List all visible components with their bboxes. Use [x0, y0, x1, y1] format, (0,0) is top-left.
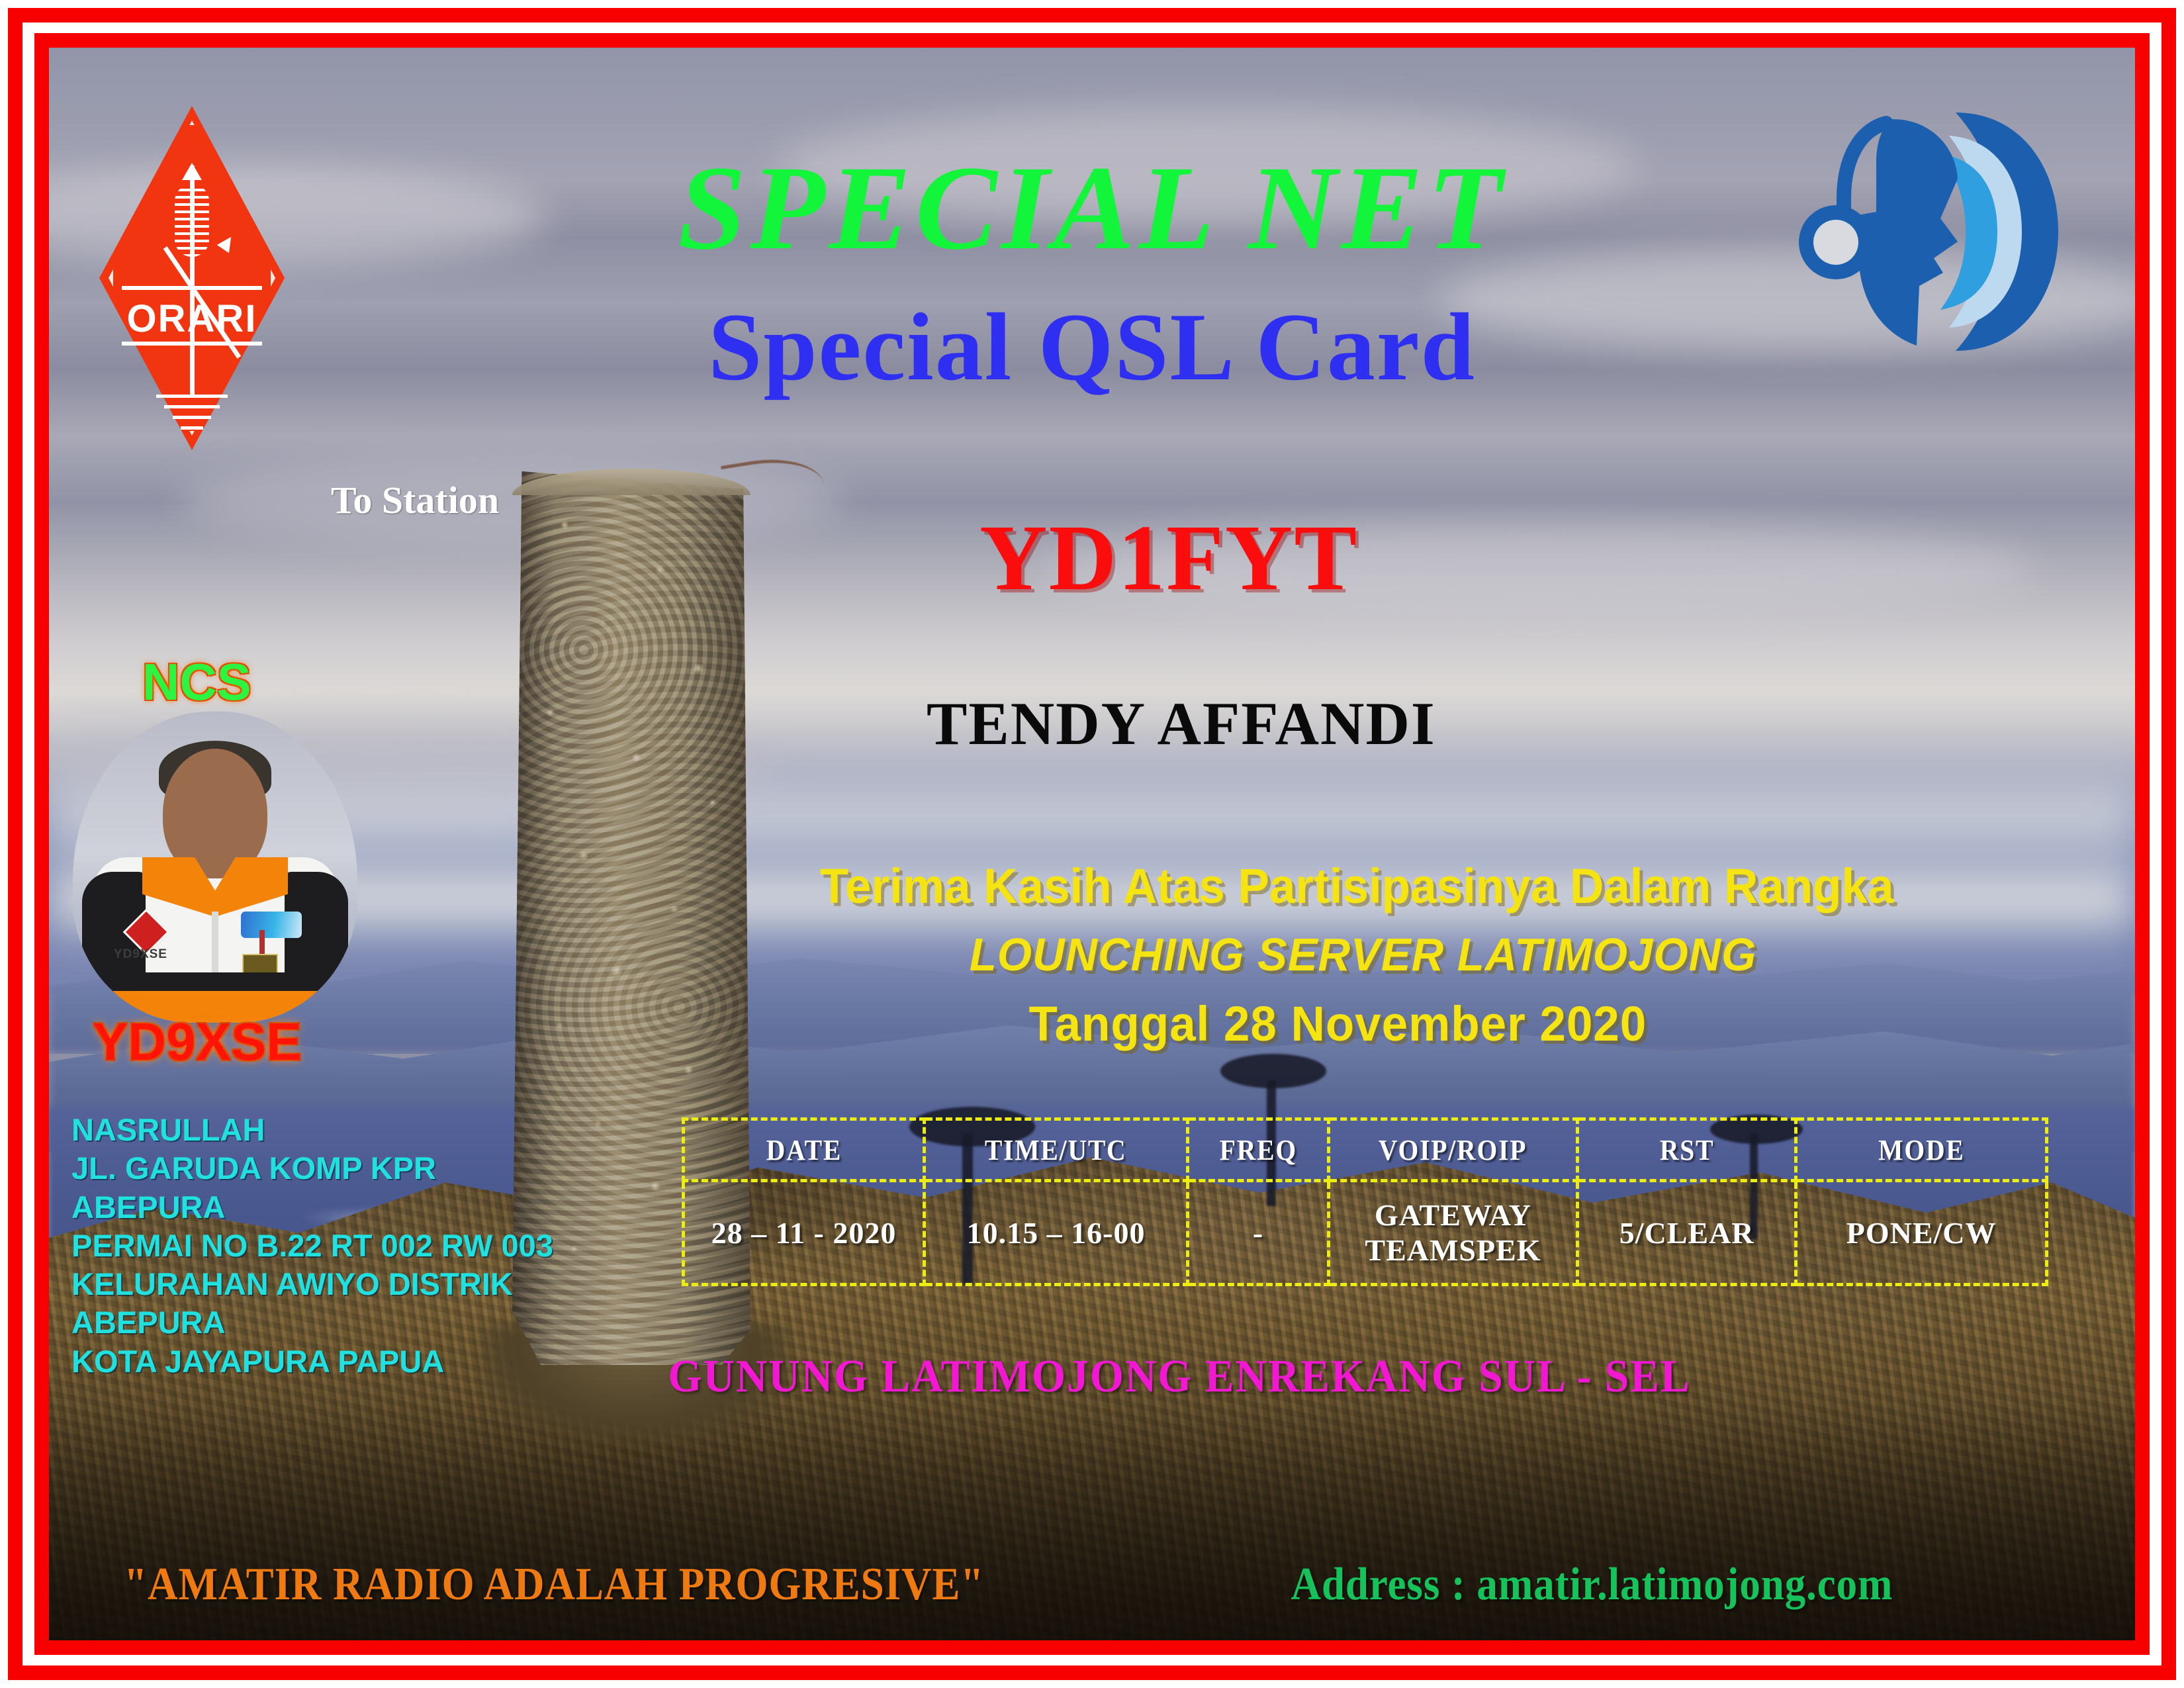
inner-red-border	[34, 33, 2150, 1655]
qsl-card: ORARI SPECIAL NET Special QSL Card To St…	[0, 0, 2184, 1688]
